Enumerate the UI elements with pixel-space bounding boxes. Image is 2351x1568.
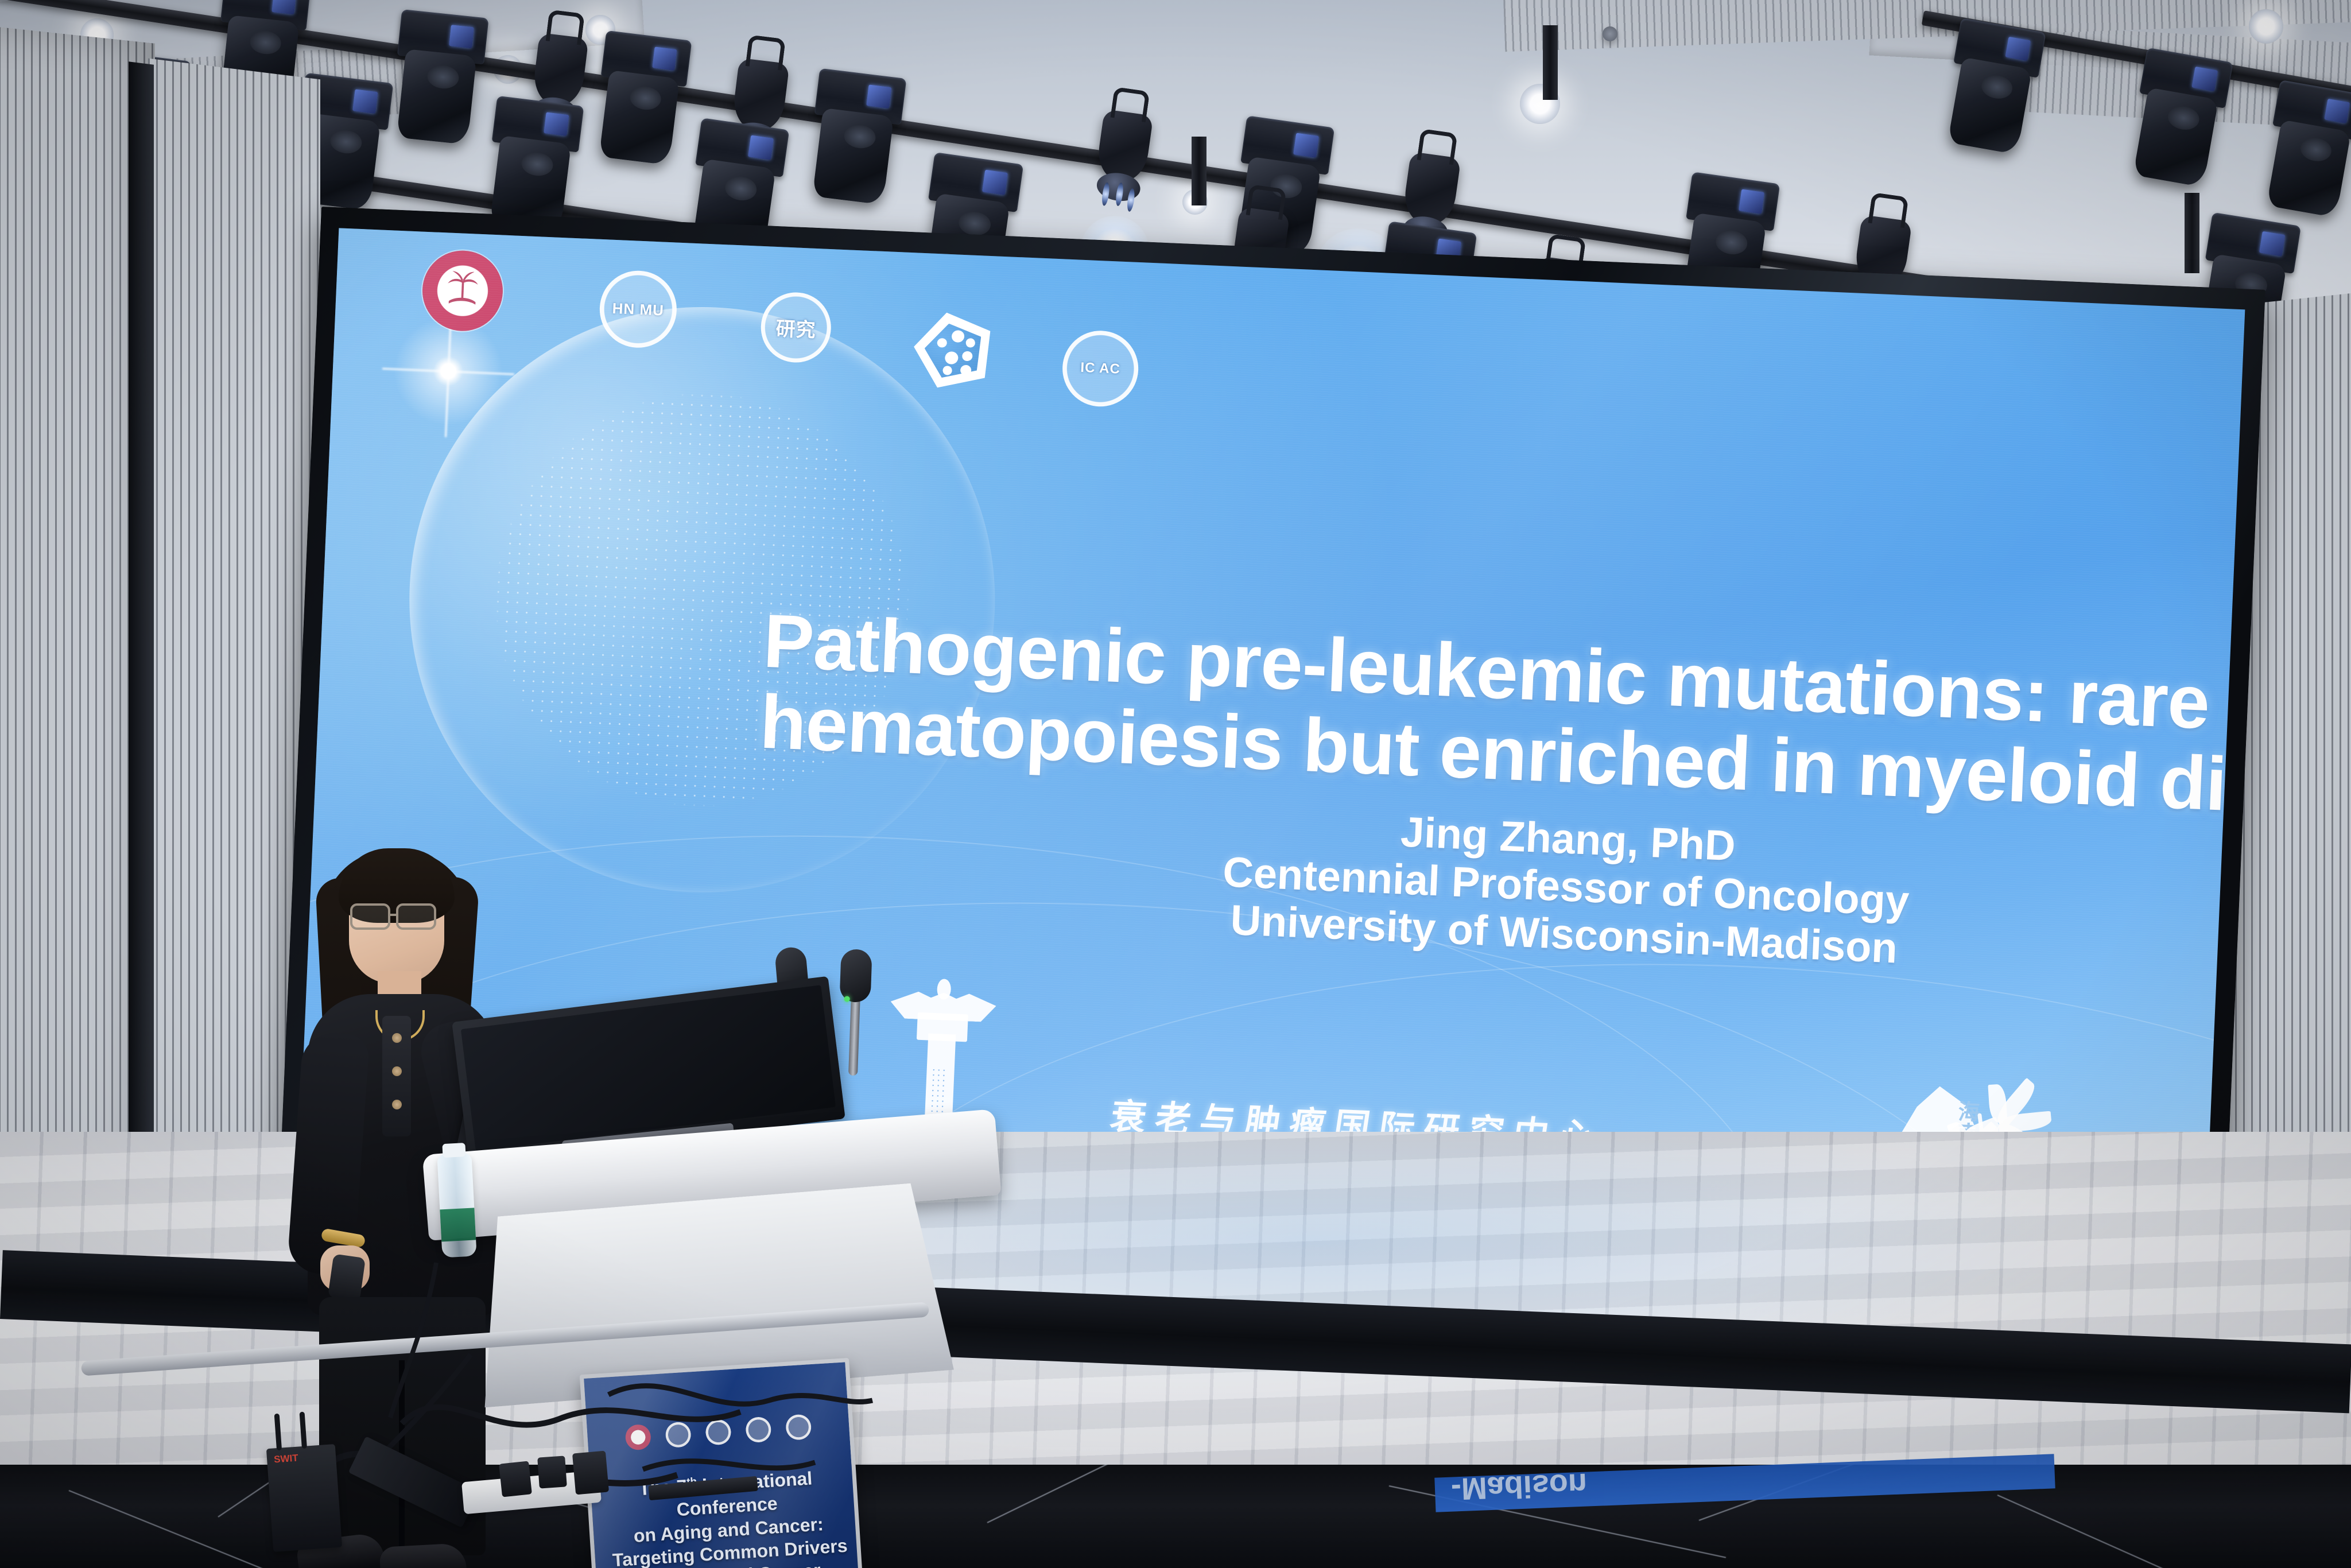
- moving-head-light: [592, 30, 692, 162]
- icaac-logo: IC AC: [1061, 329, 1140, 409]
- presentation-clicker[interactable]: [328, 1253, 366, 1301]
- conference-stage-photo: HN MU 研究 IC AC: [0, 0, 2351, 1568]
- truss-drop-pipe: [1543, 25, 1558, 100]
- ceiling-sprinkler-head: [1603, 26, 1617, 41]
- swit-wireless-transmitter[interactable]: SWIT: [266, 1444, 342, 1552]
- hainan-medical-university-logo: [421, 249, 505, 333]
- shirt-button: [392, 1033, 402, 1043]
- ceiling-downlight: [2249, 9, 2283, 44]
- swcrf-pentagon-logo: [909, 305, 1000, 394]
- eyeglasses-right-lens: [396, 903, 436, 930]
- conference-poster-panel: The 7th International Conference on Agin…: [580, 1358, 873, 1568]
- logo-text: IC AC: [1061, 329, 1140, 409]
- power-adapter-brick: [572, 1451, 609, 1495]
- power-adapter-brick: [537, 1456, 567, 1488]
- water-bottle[interactable]: [437, 1153, 476, 1258]
- logo-text: 研究: [759, 291, 832, 364]
- shirt-button: [392, 1100, 402, 1109]
- mic-status-indicator: [844, 996, 849, 1002]
- moving-head-light: [482, 96, 584, 228]
- hainan-academy-medical-sciences-logo: HN MU: [598, 269, 678, 350]
- eyeglasses-bridge: [390, 914, 398, 916]
- truss-drop-pipe: [1192, 137, 1206, 205]
- logo-text: HN MU: [598, 269, 678, 350]
- device-brand-label: SWIT: [274, 1453, 299, 1466]
- lectern-podium: The 7th International Conference on Agin…: [425, 930, 1004, 1504]
- moving-head-light: [389, 9, 489, 141]
- shirt-button: [392, 1066, 402, 1076]
- wall-shadow-gap-left: [129, 61, 154, 1247]
- moving-head-light: [805, 68, 906, 201]
- ruijin-hospital-logo: 研究: [759, 291, 832, 364]
- podium-microphone[interactable]: [837, 954, 872, 1076]
- power-adapter-brick: [499, 1461, 532, 1497]
- truss-drop-pipe: [2185, 193, 2199, 273]
- palm-tree-icon: [441, 266, 484, 309]
- eyeglasses-left-lens: [350, 903, 390, 930]
- right-shoe: [379, 1543, 467, 1568]
